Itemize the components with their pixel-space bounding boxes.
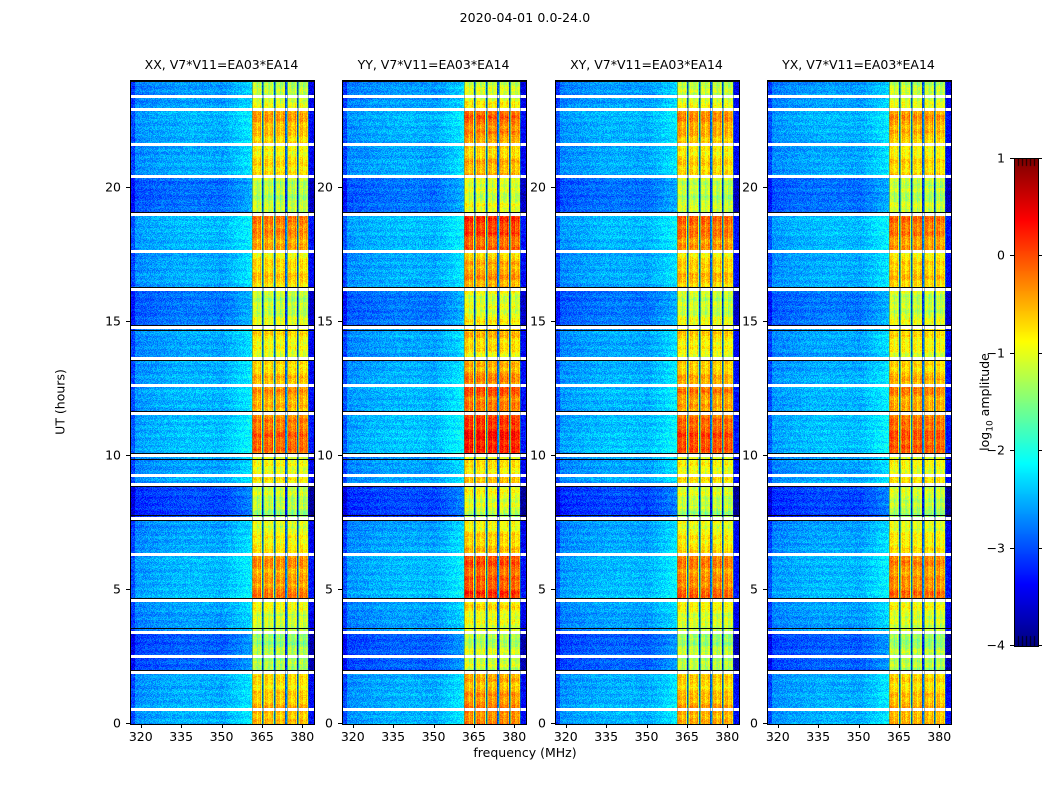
y-tick xyxy=(551,589,555,590)
x-tick-label: 365 xyxy=(250,729,274,744)
x-tick xyxy=(262,724,263,728)
panel-yy-image xyxy=(343,81,526,724)
colorbar-tick xyxy=(1010,353,1014,354)
colorbar-tick xyxy=(1038,645,1042,646)
colorbar-tick xyxy=(1010,450,1014,451)
figure-canvas: 2020-04-01 0.0-24.0 XX, V7*V11=EA03*EA14… xyxy=(0,0,1050,800)
y-tick xyxy=(763,455,767,456)
x-tick-label: 350 xyxy=(635,729,659,744)
x-tick xyxy=(566,724,567,728)
colorbar-tick-label: −3 xyxy=(987,540,1005,555)
y-tick xyxy=(763,321,767,322)
x-tick-label: 350 xyxy=(847,729,871,744)
x-tick xyxy=(647,724,648,728)
x-tick-label: 350 xyxy=(210,729,234,744)
x-tick-label: 350 xyxy=(422,729,446,744)
x-tick-label: 335 xyxy=(169,729,193,744)
colorbar[interactable] xyxy=(1014,158,1039,647)
panel-yy-spectrogram[interactable] xyxy=(342,80,527,725)
y-tick xyxy=(126,321,130,322)
y-tick-label: 20 xyxy=(530,180,546,195)
y-tick xyxy=(551,723,555,724)
y-tick xyxy=(126,455,130,456)
panel-title-xy: XY, V7*V11=EA03*EA14 xyxy=(555,57,738,75)
x-tick xyxy=(141,724,142,728)
y-tick-label: 0 xyxy=(113,716,121,731)
y-tick xyxy=(551,187,555,188)
y-tick xyxy=(338,455,342,456)
y-tick-label: 5 xyxy=(750,582,758,597)
x-tick xyxy=(353,724,354,728)
y-tick-label: 0 xyxy=(750,716,758,731)
x-tick xyxy=(859,724,860,728)
y-tick xyxy=(763,723,767,724)
y-tick-label: 15 xyxy=(530,314,546,329)
y-tick-label: 20 xyxy=(742,180,758,195)
y-tick xyxy=(126,589,130,590)
y-tick xyxy=(763,187,767,188)
panel-yx-image xyxy=(768,81,951,724)
colorbar-gradient xyxy=(1015,159,1038,646)
x-tick-label: 380 xyxy=(502,729,526,744)
y-tick xyxy=(126,187,130,188)
y-tick-label: 0 xyxy=(325,716,333,731)
colorbar-tick-label: −4 xyxy=(987,638,1005,653)
x-tick-label: 380 xyxy=(927,729,951,744)
x-tick xyxy=(514,724,515,728)
x-tick-label: 380 xyxy=(715,729,739,744)
x-tick-label: 320 xyxy=(341,729,365,744)
x-tick-label: 320 xyxy=(554,729,578,744)
y-tick-label: 20 xyxy=(317,180,333,195)
x-tick-label: 320 xyxy=(766,729,790,744)
colorbar-tick xyxy=(1038,255,1042,256)
colorbar-tick xyxy=(1038,353,1042,354)
x-tick-label: 365 xyxy=(462,729,486,744)
y-tick-label: 15 xyxy=(317,314,333,329)
y-tick-label: 5 xyxy=(325,582,333,597)
y-tick-label: 0 xyxy=(538,716,546,731)
y-tick xyxy=(763,589,767,590)
colorbar-label: log10 amplitude xyxy=(977,353,996,451)
x-tick-label: 365 xyxy=(887,729,911,744)
y-tick-label: 5 xyxy=(538,582,546,597)
panel-yx-spectrogram[interactable] xyxy=(767,80,952,725)
x-tick-label: 365 xyxy=(675,729,699,744)
panel-xy-spectrogram[interactable] xyxy=(555,80,740,725)
y-tick-label: 10 xyxy=(105,448,121,463)
colorbar-tick xyxy=(1038,158,1042,159)
colorbar-tick-label: 0 xyxy=(997,248,1005,263)
x-tick xyxy=(393,724,394,728)
panel-xx-spectrogram[interactable] xyxy=(130,80,315,725)
colorbar-tick xyxy=(1010,645,1014,646)
y-tick xyxy=(551,455,555,456)
x-tick xyxy=(181,724,182,728)
panel-title-yy: YY, V7*V11=EA03*EA14 xyxy=(342,57,525,75)
x-tick xyxy=(727,724,728,728)
colorbar-tick xyxy=(1010,158,1014,159)
y-tick xyxy=(126,723,130,724)
y-tick-label: 10 xyxy=(742,448,758,463)
colorbar-tick xyxy=(1010,548,1014,549)
panel-xy-image xyxy=(556,81,739,724)
y-tick-label: 10 xyxy=(317,448,333,463)
panel-xx-image xyxy=(131,81,314,724)
y-tick xyxy=(338,723,342,724)
x-tick xyxy=(474,724,475,728)
x-tick xyxy=(778,724,779,728)
colorbar-tick-label: 1 xyxy=(997,151,1005,166)
x-tick-label: 380 xyxy=(290,729,314,744)
y-tick-label: 10 xyxy=(530,448,546,463)
x-tick xyxy=(687,724,688,728)
colorbar-tick xyxy=(1010,255,1014,256)
x-tick xyxy=(302,724,303,728)
x-tick xyxy=(818,724,819,728)
y-tick xyxy=(338,321,342,322)
y-tick xyxy=(338,187,342,188)
x-tick xyxy=(899,724,900,728)
colorbar-tick xyxy=(1038,548,1042,549)
y-tick-label: 15 xyxy=(105,314,121,329)
x-tick-label: 320 xyxy=(129,729,153,744)
figure-suptitle: 2020-04-01 0.0-24.0 xyxy=(0,10,1050,25)
x-tick-label: 335 xyxy=(594,729,618,744)
panel-title-xx: XX, V7*V11=EA03*EA14 xyxy=(130,57,313,75)
x-tick-label: 335 xyxy=(381,729,405,744)
y-axis-label: UT (hours) xyxy=(53,369,68,435)
y-tick-label: 15 xyxy=(742,314,758,329)
x-axis-label: frequency (MHz) xyxy=(0,745,1050,760)
y-tick-label: 5 xyxy=(113,582,121,597)
x-tick xyxy=(222,724,223,728)
panel-title-yx: YX, V7*V11=EA03*EA14 xyxy=(767,57,950,75)
x-tick xyxy=(434,724,435,728)
y-tick xyxy=(338,589,342,590)
x-tick-label: 335 xyxy=(806,729,830,744)
x-tick xyxy=(606,724,607,728)
y-tick xyxy=(551,321,555,322)
y-tick-label: 20 xyxy=(105,180,121,195)
colorbar-tick xyxy=(1038,450,1042,451)
x-tick xyxy=(939,724,940,728)
